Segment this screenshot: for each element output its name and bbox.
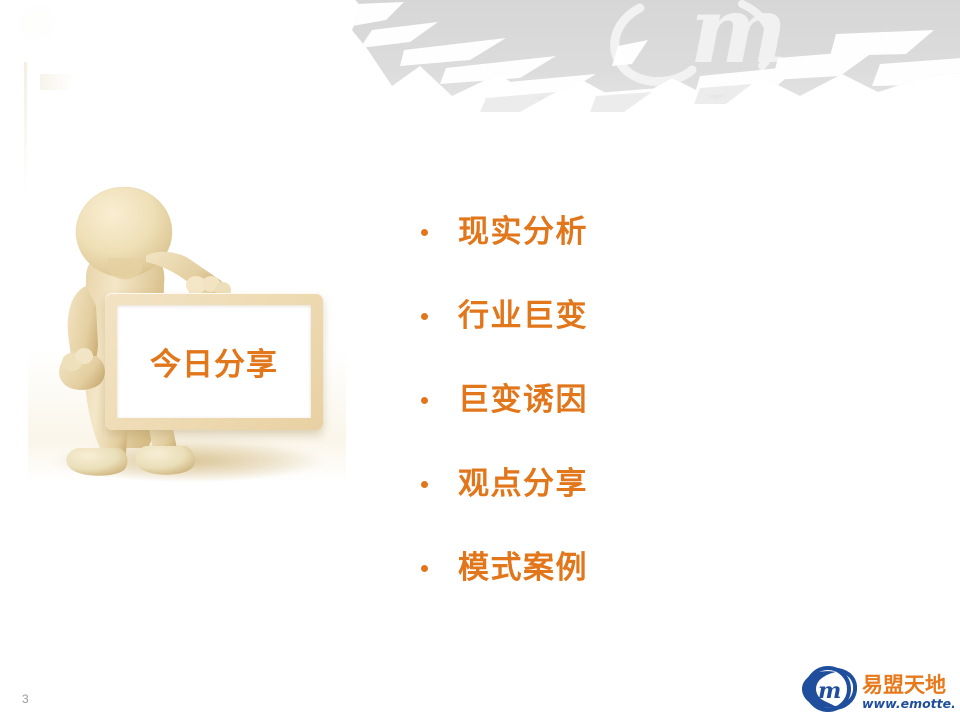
company-logo: m 易盟天地 www.emotte.com <box>798 662 954 716</box>
agenda-item-2[interactable]: 行业巨变 <box>412 274 892 358</box>
bullet-dot-icon <box>412 313 458 320</box>
whiteboard-title: 今日分享 <box>150 339 278 384</box>
logo-company-name: 易盟天地 <box>862 673 946 697</box>
agenda-item-3[interactable]: 巨变诱因 <box>412 358 892 442</box>
whiteboard: 今日分享 <box>105 293 323 430</box>
agenda-item-label: 巨变诱因 <box>458 385 588 416</box>
watermark-ghost-line <box>24 62 27 194</box>
watermark-ghost-top-left <box>14 2 60 44</box>
whiteboard-panel: 今日分享 <box>117 305 311 418</box>
agenda-item-1[interactable]: 现实分析 <box>412 190 892 274</box>
bullet-dot-icon <box>412 229 458 236</box>
agenda-item-label: 模式案例 <box>458 553 588 584</box>
agenda-item-4[interactable]: 观点分享 <box>412 442 892 526</box>
agenda-item-label: 行业巨变 <box>458 301 588 332</box>
agenda-item-label: 观点分享 <box>458 469 588 500</box>
agenda-item-5[interactable]: 模式案例 <box>412 526 892 610</box>
bullet-dot-icon <box>412 565 458 572</box>
bullet-dot-icon <box>412 481 458 488</box>
agenda-item-label: 现实分析 <box>458 217 588 248</box>
top-decoration-band: m <box>0 0 960 118</box>
svg-text:m: m <box>690 0 787 84</box>
agenda-list: 现实分析 行业巨变 巨变诱因 观点分享 模式案例 <box>412 190 892 610</box>
logo-website: www.emotte.com <box>862 696 954 711</box>
illustration-mannequin-with-whiteboard: 今日分享 <box>28 186 346 482</box>
watermark-ghost-small <box>40 74 74 90</box>
bullet-dot-icon <box>412 397 458 404</box>
presentation-slide: m <box>0 0 960 720</box>
page-number: 3 <box>22 692 29 706</box>
